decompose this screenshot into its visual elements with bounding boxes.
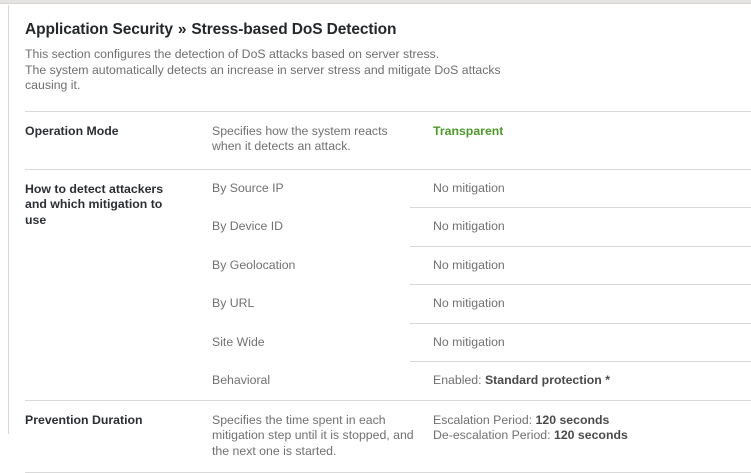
table-row[interactable]: By Source IP No mitigation	[205, 170, 751, 208]
table-row[interactable]: Specifies the time spent in each mitigat…	[205, 401, 751, 473]
row-value-by-url[interactable]: No mitigation	[426, 285, 751, 323]
table-row[interactable]: By Device ID No mitigation	[205, 208, 751, 246]
row-label-by-source-ip: By Source IP	[205, 170, 426, 208]
row-value-by-device-id[interactable]: No mitigation	[426, 208, 751, 246]
table-row[interactable]: Specifies how the system reacts when it …	[205, 112, 751, 169]
row-label-by-device-id: By Device ID	[205, 208, 426, 246]
escalation-period-line: Escalation Period: 120 seconds	[433, 413, 751, 429]
configuration-table: Operation Mode Specifies how the system …	[9, 111, 751, 473]
escalation-period-label: Escalation Period:	[433, 413, 536, 427]
page-root: Application Security»Stress-based DoS De…	[0, 0, 751, 434]
section-prevention-duration: Prevention Duration Specifies the time s…	[9, 401, 751, 473]
row-label-site-wide: Site Wide	[205, 324, 426, 362]
section-label-prevention-duration: Prevention Duration	[9, 401, 205, 442]
escalation-period-value: 120 seconds	[536, 413, 610, 427]
operation-mode-value[interactable]: Transparent	[433, 124, 503, 138]
page-description-line-2: The system automatically detects an incr…	[25, 63, 525, 79]
content-panel: Application Security»Stress-based DoS De…	[9, 5, 751, 434]
row-value-behavioral[interactable]: Enabled: Standard protection *	[426, 362, 751, 400]
table-row[interactable]: Behavioral Enabled: Standard protection …	[205, 362, 751, 400]
detect-attackers-rows: By Source IP No mitigation By Device ID …	[205, 170, 751, 400]
section-detect-attackers: How to detect attackers and which mitiga…	[9, 170, 751, 400]
page-description: This section configures the detection of…	[25, 47, 525, 94]
page-description-line-1: This section configures the detection of…	[25, 47, 525, 63]
window-top-strip	[0, 0, 751, 4]
page-title: Application Security»Stress-based DoS De…	[25, 21, 751, 39]
row-label-by-geolocation: By Geolocation	[205, 247, 426, 285]
section-operation-mode: Operation Mode Specifies how the system …	[9, 112, 751, 169]
section-label-detect-attackers: How to detect attackers and which mitiga…	[9, 170, 205, 229]
behavioral-value-prefix: Enabled:	[433, 373, 485, 387]
row-description-line-2: mitigation step until it is stopped, and	[212, 428, 426, 444]
page-title-current: Stress-based DoS Detection	[191, 21, 396, 38]
page-description-line-3: causing it.	[25, 78, 525, 94]
breadcrumb-separator-icon: »	[178, 21, 187, 38]
behavioral-value-strong: Standard protection *	[485, 373, 610, 387]
table-row[interactable]: Site Wide No mitigation	[205, 324, 751, 362]
de-escalation-period-value: 120 seconds	[554, 428, 628, 442]
breadcrumb-parent[interactable]: Application Security	[25, 21, 173, 38]
row-value-operation-mode: Transparent	[426, 112, 751, 154]
row-value-by-geolocation[interactable]: No mitigation	[426, 247, 751, 285]
table-row[interactable]: By Geolocation No mitigation	[205, 247, 751, 285]
section-label-line-3: use	[25, 213, 205, 229]
row-description-line-1: Specifies the time spent in each	[212, 413, 426, 429]
row-description-line-2: when it detects an attack.	[212, 139, 426, 155]
table-row[interactable]: By URL No mitigation	[205, 285, 751, 323]
row-value-prevention-duration[interactable]: Escalation Period: 120 seconds De-escala…	[426, 401, 751, 457]
row-description-line-1: Specifies how the system reacts	[212, 124, 426, 140]
de-escalation-period-line: De-escalation Period: 120 seconds	[433, 428, 751, 444]
row-description-operation-mode: Specifies how the system reacts when it …	[205, 112, 426, 169]
row-label-behavioral: Behavioral	[205, 362, 426, 400]
de-escalation-period-label: De-escalation Period:	[433, 428, 554, 442]
row-description-prevention-duration: Specifies the time spent in each mitigat…	[205, 401, 426, 473]
row-label-by-url: By URL	[205, 285, 426, 323]
page-header: Application Security»Stress-based DoS De…	[9, 5, 751, 94]
section-label-line-1: How to detect attackers	[25, 182, 205, 198]
section-label-line-2: and which mitigation to	[25, 197, 205, 213]
row-value-site-wide[interactable]: No mitigation	[426, 324, 751, 362]
row-description-line-3: the next one is started.	[212, 444, 426, 460]
row-value-by-source-ip[interactable]: No mitigation	[426, 170, 751, 208]
section-label-operation-mode: Operation Mode	[9, 112, 205, 154]
